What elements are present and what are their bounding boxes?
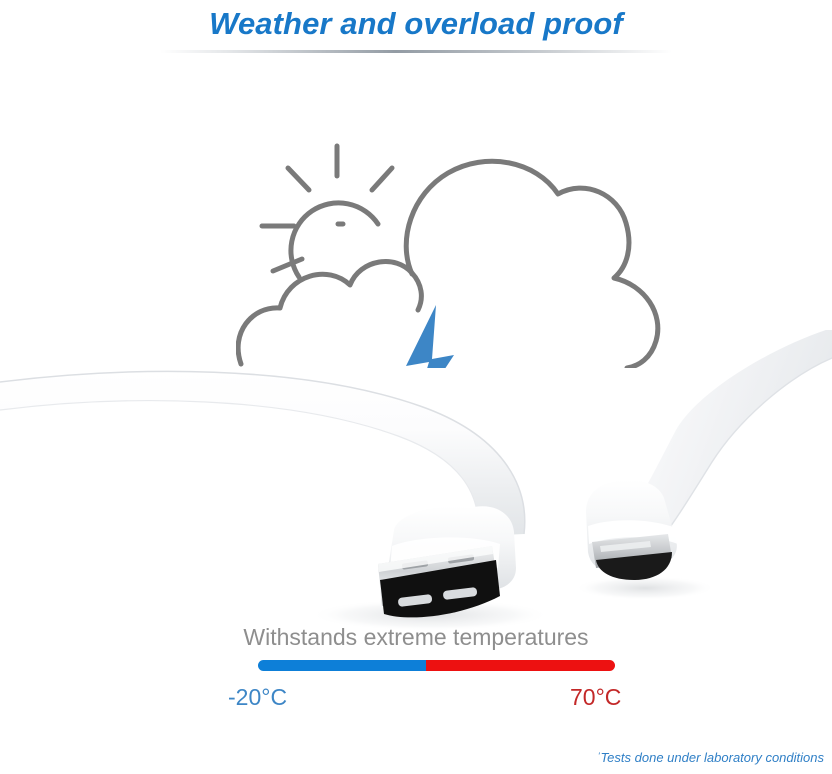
footnote-disclaimer: ˈTests done under laboratory conditions	[596, 750, 824, 765]
usb-cable-illustration	[0, 330, 832, 640]
temperature-gradient-bar	[258, 660, 615, 671]
marketing-banner: Weather and overload proof	[0, 0, 832, 774]
micro-usb-shadow	[575, 576, 715, 600]
sun-ray-northwest	[288, 168, 309, 190]
temperature-low-label: -20°C	[228, 684, 287, 711]
temperature-hot-segment	[426, 660, 615, 671]
header-divider	[160, 50, 672, 53]
sun-ray-southwest	[273, 259, 302, 271]
temperature-cold-segment	[258, 660, 426, 671]
page-title: Weather and overload proof	[0, 6, 832, 42]
sun-ray-northeast	[372, 168, 392, 190]
usb-a-connector	[378, 506, 516, 617]
temperature-high-label: 70°C	[570, 684, 621, 711]
temperature-caption: Withstands extreme temperatures	[0, 624, 832, 651]
